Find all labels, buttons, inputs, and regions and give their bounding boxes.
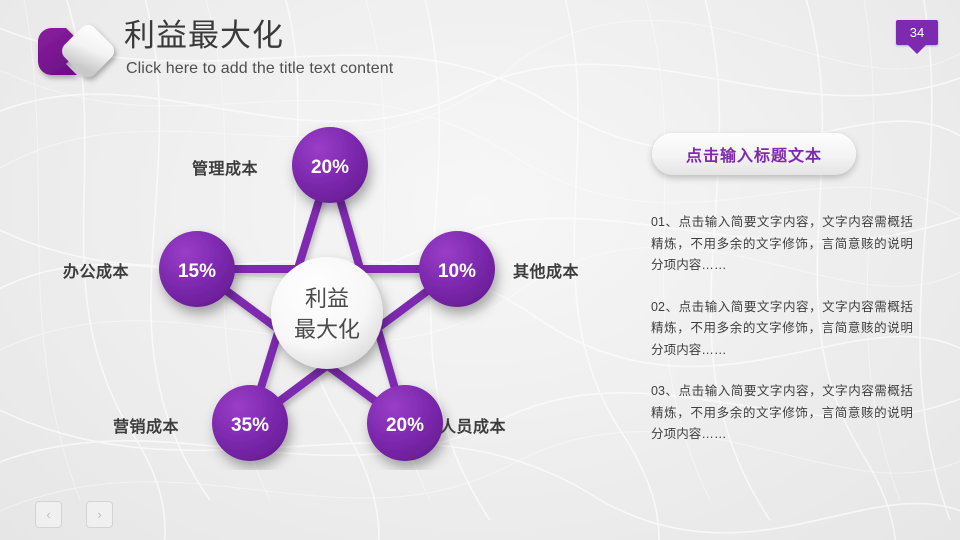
panel-paragraph-01: 01、点击输入简要文字内容，文字内容需概括精炼，不用多余的文字修饰，言简意赅的说… [651, 212, 913, 277]
node-right-value: 10% [438, 261, 476, 282]
node-left[interactable]: 15% [159, 231, 235, 307]
chevron-left-icon: ‹ [46, 508, 50, 521]
page-title: 利益最大化 [124, 20, 393, 53]
node-bottom-left[interactable]: 35% [212, 385, 288, 461]
node-top[interactable]: 20% [292, 127, 368, 203]
panel-title-banner[interactable]: 点击输入标题文本 [652, 133, 856, 175]
brand-logo-icon [22, 18, 134, 88]
node-label-management-cost: 管理成本 [192, 155, 258, 179]
center-label-line1: 利益 [305, 286, 349, 311]
badge-pointer-icon [908, 45, 926, 54]
node-bottom-right[interactable]: 20% [367, 385, 443, 461]
panel-paragraph-list: 01、点击输入简要文字内容，文字内容需概括精炼，不用多余的文字修饰，言简意赅的说… [651, 212, 913, 466]
chevron-right-icon: › [97, 508, 101, 521]
node-right[interactable]: 10% [419, 231, 495, 307]
next-slide-button[interactable]: › [86, 501, 113, 528]
node-bottom-left-value: 35% [231, 415, 269, 436]
title-block: 利益最大化 Click here to add the title text c… [124, 20, 393, 78]
panel-paragraph-03: 03、点击输入简要文字内容，文字内容需概括精炼，不用多余的文字修饰，言简意赅的说… [651, 381, 913, 446]
node-label-office-cost: 办公成本 [63, 258, 129, 282]
slide-canvas: 利益最大化 Click here to add the title text c… [0, 0, 960, 540]
panel-paragraph-02: 02、点击输入简要文字内容，文字内容需概括精炼，不用多余的文字修饰，言简意赅的说… [651, 297, 913, 362]
center-label-line2: 最大化 [294, 317, 360, 342]
slide-navigation: ‹ › [35, 501, 113, 528]
pentagram-diagram: 利益 最大化 20% 10% 20% 35% 15% [0, 100, 620, 470]
page-number-badge: 34 [896, 20, 938, 54]
node-label-marketing-cost: 营销成本 [113, 413, 179, 437]
prev-slide-button[interactable]: ‹ [35, 501, 62, 528]
node-label-personnel-cost: 人员成本 [440, 413, 506, 437]
node-label-other-cost: 其他成本 [513, 258, 579, 282]
page-subtitle: Click here to add the title text content [126, 60, 393, 78]
center-circle[interactable] [271, 257, 383, 369]
node-bottom-right-value: 20% [386, 415, 424, 436]
node-left-value: 15% [178, 261, 216, 282]
page-number-label: 34 [896, 20, 938, 45]
node-top-value: 20% [311, 157, 349, 178]
panel-title-label: 点击输入标题文本 [686, 142, 822, 166]
